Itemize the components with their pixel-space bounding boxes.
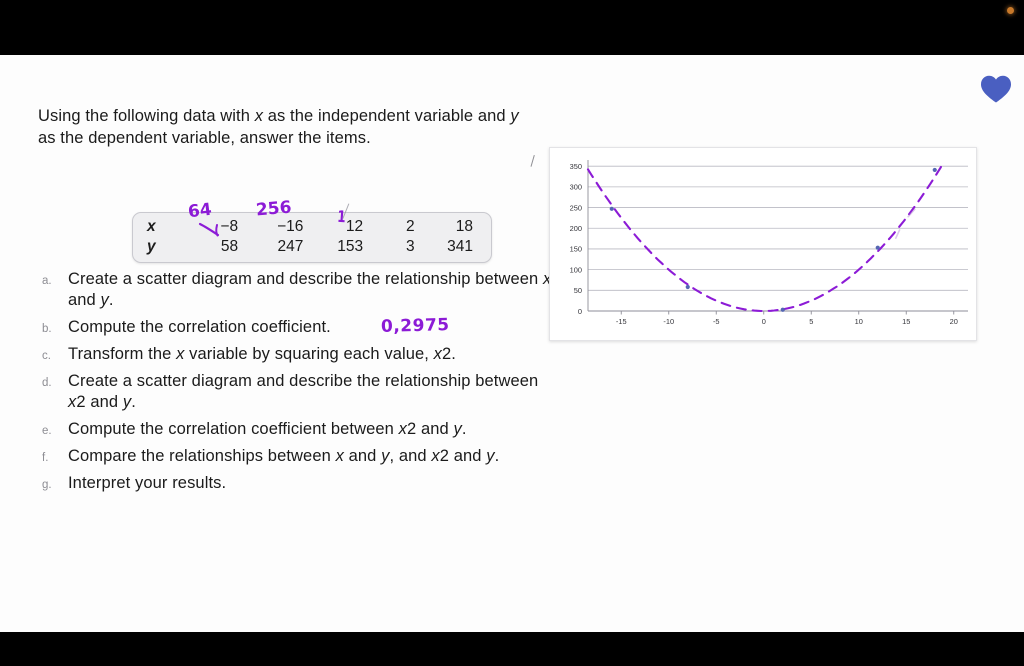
cell-y-2: 247 bbox=[242, 237, 307, 257]
svg-text:100: 100 bbox=[570, 265, 582, 274]
item-text: Compare the relationships between x and … bbox=[68, 446, 499, 467]
svg-text:0: 0 bbox=[762, 317, 766, 326]
item-text: Compute the correlation coefficient. bbox=[68, 317, 331, 338]
list-item: f. Compare the relationships between x a… bbox=[38, 446, 558, 467]
item-letter: b. bbox=[38, 317, 68, 335]
lead-paragraph: Using the following data with x as the i… bbox=[38, 105, 598, 149]
strikethrough-mark-icon bbox=[198, 221, 222, 237]
svg-text:350: 350 bbox=[570, 162, 582, 171]
list-item: g. Interpret your results. bbox=[38, 473, 558, 494]
data-table: x −8 −16 12 2 18 y 58 247 153 3 341 bbox=[132, 212, 492, 263]
list-item: d. Create a scatter diagram and describe… bbox=[38, 371, 558, 413]
item-letter: c. bbox=[38, 344, 68, 362]
item-text: Transform the x variable by squaring eac… bbox=[68, 344, 456, 365]
heart-icon[interactable] bbox=[978, 71, 1014, 107]
lead-text-part-3: as the dependent variable, answer the it… bbox=[38, 129, 371, 147]
svg-text:-10: -10 bbox=[663, 317, 674, 326]
scatter-chart-panel: 050100150200250300350-15-10-505101520 bbox=[549, 147, 977, 341]
cell-x-4: 2 bbox=[367, 217, 418, 237]
question-list: a. Create a scatter diagram and describe… bbox=[38, 269, 558, 500]
list-item: a. Create a scatter diagram and describe… bbox=[38, 269, 558, 311]
lead-text-part-1: Using the following data with bbox=[38, 107, 255, 125]
svg-text:-15: -15 bbox=[616, 317, 627, 326]
item-text: Create a scatter diagram and describe th… bbox=[68, 269, 558, 311]
item-letter: a. bbox=[38, 269, 68, 287]
item-letter: e. bbox=[38, 419, 68, 437]
lead-var-y: y bbox=[510, 107, 518, 125]
document-page: Using the following data with x as the i… bbox=[0, 55, 1024, 632]
svg-text:15: 15 bbox=[902, 317, 910, 326]
svg-text:-5: -5 bbox=[713, 317, 720, 326]
list-item: e. Compute the correlation coefficient b… bbox=[38, 419, 558, 440]
item-letter: g. bbox=[38, 473, 68, 491]
svg-text:150: 150 bbox=[570, 245, 582, 254]
svg-text:0: 0 bbox=[578, 307, 582, 316]
table-row-x: x −8 −16 12 2 18 bbox=[133, 217, 491, 237]
cell-y-4: 3 bbox=[367, 237, 418, 257]
table-row-y: y 58 247 153 3 341 bbox=[133, 237, 491, 257]
cell-x-2: −16 bbox=[242, 217, 307, 237]
list-item: b. Compute the correlation coefficient. bbox=[38, 317, 558, 338]
scatter-chart: 050100150200250300350-15-10-505101520 bbox=[550, 148, 976, 340]
lead-text-part-2: as the independent variable and bbox=[263, 107, 510, 125]
stray-pen-tick-icon bbox=[531, 155, 543, 169]
item-text: Create a scatter diagram and describe th… bbox=[68, 371, 558, 413]
letterbox-bar-bottom bbox=[0, 632, 1024, 666]
svg-text:200: 200 bbox=[570, 224, 582, 233]
item-letter: d. bbox=[38, 371, 68, 389]
cell-y-3: 153 bbox=[307, 237, 367, 257]
status-indicator-dot bbox=[1007, 7, 1014, 14]
svg-text:250: 250 bbox=[570, 203, 582, 212]
letterbox-bar-top bbox=[0, 0, 1024, 55]
cell-y-5: 341 bbox=[419, 237, 491, 257]
list-item: c. Transform the x variable by squaring … bbox=[38, 344, 558, 365]
row-header-y: y bbox=[133, 237, 184, 257]
svg-text:5: 5 bbox=[809, 317, 813, 326]
cell-y-1: 58 bbox=[184, 237, 242, 257]
item-text: Interpret your results. bbox=[68, 473, 226, 494]
row-header-x: x bbox=[133, 217, 184, 237]
screen: Using the following data with x as the i… bbox=[0, 0, 1024, 666]
svg-text:50: 50 bbox=[574, 286, 582, 295]
svg-text:300: 300 bbox=[570, 183, 582, 192]
svg-text:20: 20 bbox=[950, 317, 958, 326]
cell-x-5: 18 bbox=[419, 217, 491, 237]
cell-x-3: 12 bbox=[307, 217, 367, 237]
item-letter: f. bbox=[38, 446, 68, 464]
item-text: Compute the correlation coefficient betw… bbox=[68, 419, 467, 440]
lead-var-x: x bbox=[255, 107, 263, 125]
svg-text:10: 10 bbox=[855, 317, 863, 326]
